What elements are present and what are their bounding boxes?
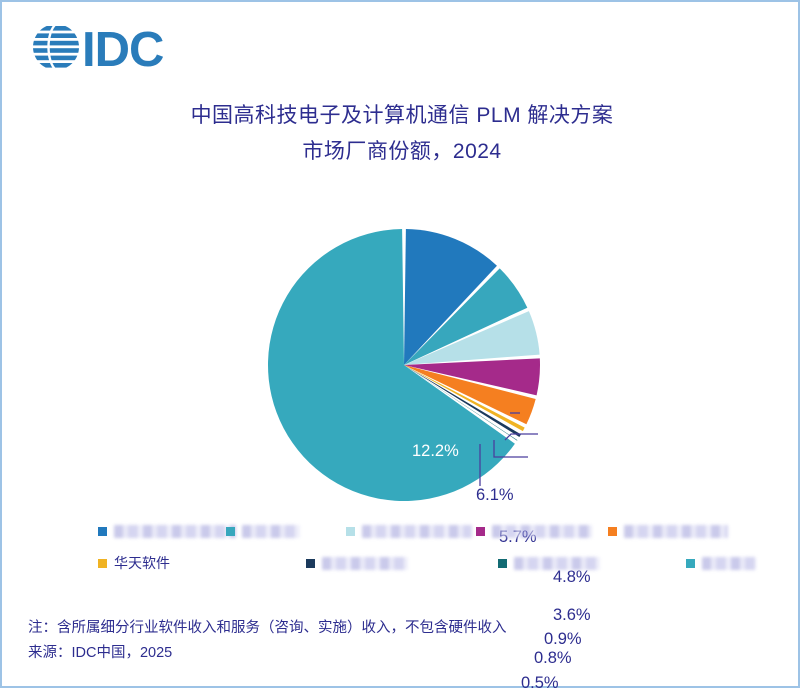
legend-swatch-icon — [98, 559, 107, 568]
legend-swatch-icon — [686, 559, 695, 568]
footer-notes: 注：含所属细分行业软件收入和服务（咨询、实施）收入，不包含硬件收入 来源：IDC… — [28, 616, 768, 666]
legend-row-1 — [98, 520, 788, 552]
legend-swatch-icon — [226, 527, 235, 536]
slice-label-1: 12.2% — [412, 442, 459, 461]
legend-item[interactable] — [226, 522, 300, 540]
legend-item-label — [242, 525, 300, 538]
footer-note: 注：含所属细分行业软件收入和服务（咨询、实施）收入，不包含硬件收入 — [28, 616, 768, 641]
legend-item[interactable] — [608, 522, 728, 540]
legend-item[interactable] — [498, 554, 600, 572]
legend-item-label — [624, 525, 728, 538]
svg-text:IDC: IDC — [82, 23, 164, 76]
title-line-1: 中国高科技电子及计算机通信 PLM 解决方案 — [2, 98, 800, 134]
legend-item-label — [114, 525, 236, 538]
legend-swatch-icon — [476, 527, 485, 536]
legend-item-label: 华天软件 — [114, 553, 170, 573]
legend-swatch-icon — [498, 559, 507, 568]
legend-item-label — [322, 557, 408, 570]
footer-source: 来源：IDC中国，2025 — [28, 641, 768, 666]
legend-item-label — [492, 525, 592, 538]
pie-svg — [267, 228, 541, 502]
legend-item[interactable]: 华天软件 — [98, 554, 170, 572]
pie-chart: 12.2% 6.1% 5.7% 4.8% 3.6% 0.9% 0.8% 0.5%… — [2, 200, 800, 520]
legend-item-label — [514, 557, 600, 570]
legend-item-label — [362, 525, 472, 538]
legend-item[interactable] — [476, 522, 592, 540]
page-title: 中国高科技电子及计算机通信 PLM 解决方案 市场厂商份额，2024 — [2, 98, 800, 170]
legend: 华天软件 — [98, 520, 788, 584]
legend-item[interactable] — [98, 522, 236, 540]
legend-item[interactable] — [346, 522, 472, 540]
legend-row-2: 华天软件 — [98, 552, 788, 584]
idc-logo-svg: IDC — [30, 18, 190, 76]
legend-swatch-icon — [306, 559, 315, 568]
slice-label-2: 6.1% — [476, 486, 514, 505]
legend-item[interactable] — [686, 554, 756, 572]
slice-label-8: 0.5% — [521, 674, 559, 693]
legend-item[interactable] — [306, 554, 408, 572]
idc-logo: IDC — [30, 18, 190, 76]
title-line-2: 市场厂商份额，2024 — [2, 134, 800, 170]
legend-item-label — [702, 557, 756, 570]
pie-slices — [268, 229, 540, 501]
legend-swatch-icon — [608, 527, 617, 536]
legend-swatch-icon — [346, 527, 355, 536]
legend-swatch-icon — [98, 527, 107, 536]
chart-card: IDC 中国高科技电子及计算机通信 PLM 解决方案 市场厂商份额，2024 1… — [0, 0, 800, 688]
